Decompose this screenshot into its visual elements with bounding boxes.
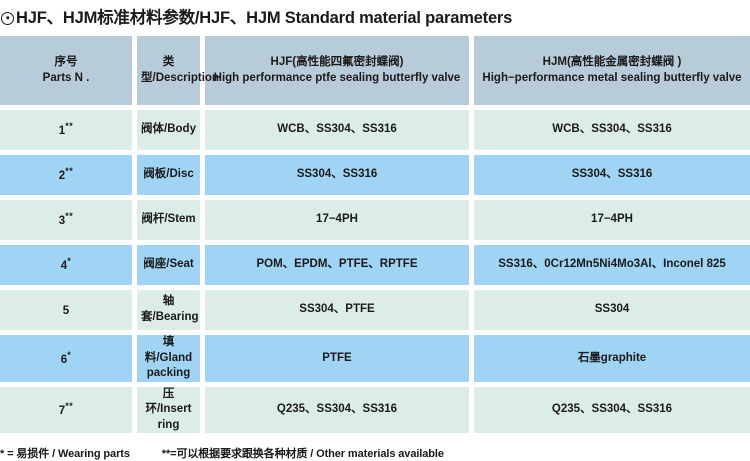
cell-description: 阀体/Body — [137, 110, 205, 155]
parts-no-asterisk: ** — [65, 401, 73, 411]
column-header-hjf: HJF(高性能四氟密封蝶阀) High performance ptfe sea… — [205, 36, 474, 110]
table-row: 7** 压环/Insert ring Q235、SS304、SS316 Q235… — [0, 387, 750, 434]
cell-hjm-material: WCB、SS304、SS316 — [474, 110, 750, 155]
cell-hjm-material: SS304、SS316 — [474, 155, 750, 200]
standard-material-parameters-table: 序号 Parts N . 类型/Description HJF(高性能四氟密封蝶… — [0, 36, 750, 433]
table-row: 6* 填料/Gland packing PTFE 石墨graphite — [0, 335, 750, 387]
column-header-hjm-en: High−performance metal sealing butterfly… — [478, 71, 746, 87]
cell-hjm-material: 石墨graphite — [474, 335, 750, 387]
material-parameters-page: HJF、HJM标准材料参数/HJF、HJM Standard material … — [0, 0, 750, 455]
cell-hjf-material: WCB、SS304、SS316 — [205, 110, 474, 155]
page-title: HJF、HJM标准材料参数/HJF、HJM Standard material … — [0, 0, 750, 36]
cell-hjm-material: 17−4PH — [474, 200, 750, 245]
cell-description: 阀座/Seat — [137, 245, 205, 290]
parts-no-asterisk: ** — [65, 166, 73, 176]
table-row: 4* 阀座/Seat POM、EPDM、PTFE、RPTFE SS316、0Cr… — [0, 245, 750, 290]
column-header-parts-no-en: Parts N . — [4, 71, 128, 87]
table-header: 序号 Parts N . 类型/Description HJF(高性能四氟密封蝶… — [0, 36, 750, 110]
cell-hjf-material: 17−4PH — [205, 200, 474, 245]
table-footnote: * = 易损件 / Wearing parts **=可以根据要求跟换各种材质 … — [0, 433, 750, 461]
cell-hjf-material: PTFE — [205, 335, 474, 387]
cell-parts-no: 1** — [0, 110, 137, 155]
cell-hjm-material: Q235、SS304、SS316 — [474, 387, 750, 434]
parts-no-value: 5 — [63, 305, 69, 317]
column-header-description-label: 类型/Description — [141, 55, 196, 86]
column-header-parts-no: 序号 Parts N . — [0, 36, 137, 110]
column-header-hjm-cn: HJM(高性能金属密封蝶阀 ) — [478, 55, 746, 71]
parts-no-asterisk: ** — [65, 121, 73, 131]
parts-no-asterisk: * — [67, 256, 71, 266]
cell-hjm-material: SS304 — [474, 290, 750, 335]
parts-no-asterisk: * — [67, 350, 71, 360]
cell-description: 阀板/Disc — [137, 155, 205, 200]
circled-dot-icon — [1, 12, 14, 25]
table-row: 1** 阀体/Body WCB、SS304、SS316 WCB、SS304、SS… — [0, 110, 750, 155]
cell-description: 轴套/Bearing — [137, 290, 205, 335]
cell-hjm-material: SS316、0Cr12Mn5Ni4Mo3Al、Inconel 825 — [474, 245, 750, 290]
cell-parts-no: 3** — [0, 200, 137, 245]
column-header-hjm: HJM(高性能金属密封蝶阀 ) High−performance metal s… — [474, 36, 750, 110]
cell-hjf-material: Q235、SS304、SS316 — [205, 387, 474, 434]
cell-parts-no: 6* — [0, 335, 137, 387]
page-title-text: HJF、HJM标准材料参数/HJF、HJM Standard material … — [16, 10, 512, 27]
column-header-description: 类型/Description — [137, 36, 205, 110]
table-row: 5 轴套/Bearing SS304、PTFE SS304 — [0, 290, 750, 335]
column-header-hjf-cn: HJF(高性能四氟密封蝶阀) — [209, 55, 465, 71]
cell-hjf-material: SS304、PTFE — [205, 290, 474, 335]
cell-hjf-material: POM、EPDM、PTFE、RPTFE — [205, 245, 474, 290]
cell-description: 填料/Gland packing — [137, 335, 205, 387]
parts-no-asterisk: ** — [65, 211, 73, 221]
column-header-hjf-en: High performance ptfe sealing butterfly … — [209, 71, 465, 87]
cell-description: 阀杆/Stem — [137, 200, 205, 245]
table-body: 1** 阀体/Body WCB、SS304、SS316 WCB、SS304、SS… — [0, 110, 750, 433]
cell-parts-no: 7** — [0, 387, 137, 434]
table-row: 3** 阀杆/Stem 17−4PH 17−4PH — [0, 200, 750, 245]
table-row: 2** 阀板/Disc SS304、SS316 SS304、SS316 — [0, 155, 750, 200]
footnote-other-materials: **=可以根据要求跟换各种材质 / Other materials availa… — [162, 448, 444, 460]
cell-description: 压环/Insert ring — [137, 387, 205, 434]
cell-hjf-material: SS304、SS316 — [205, 155, 474, 200]
footnote-wearing-parts: * = 易损件 / Wearing parts — [0, 448, 130, 460]
column-header-parts-no-cn: 序号 — [4, 55, 128, 71]
cell-parts-no: 4* — [0, 245, 137, 290]
table-header-row: 序号 Parts N . 类型/Description HJF(高性能四氟密封蝶… — [0, 36, 750, 110]
cell-parts-no: 5 — [0, 290, 137, 335]
cell-parts-no: 2** — [0, 155, 137, 200]
